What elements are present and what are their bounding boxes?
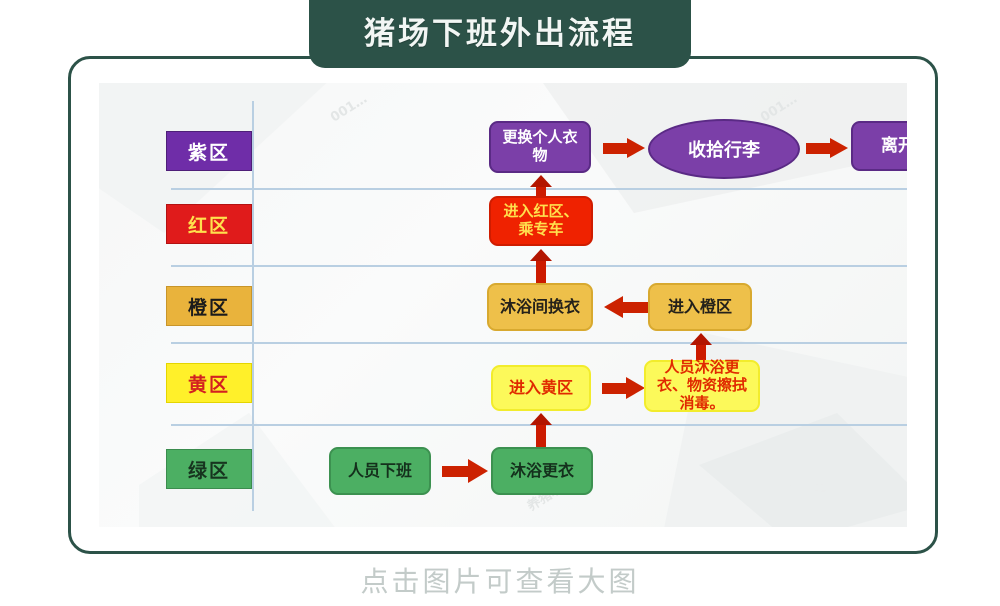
zone-label-red-text: 红区 (188, 211, 230, 238)
node-shower-room-change[interactable]: 沐浴间换衣 (487, 283, 593, 331)
node-shower-and-change[interactable]: 沐浴更衣 (491, 447, 593, 495)
zone-label-yellow[interactable]: 黄区 (166, 363, 252, 403)
image-hint-caption: 点击图片可查看大图 (0, 560, 1000, 600)
watermark-1: 001… (328, 92, 370, 126)
node-enter-red-zone-shuttle[interactable]: 进入红区、乘专车 (489, 196, 593, 246)
node-enter-orange-zone[interactable]: 进入橙区 (648, 283, 752, 331)
node-shower-and-disinfect-label: 人员沐浴更衣、物资擦拭消毒。 (652, 359, 752, 412)
node-leave-label: 离开 (881, 136, 907, 156)
node-staff-off-duty-label: 人员下班 (348, 462, 412, 481)
node-enter-orange-zone-label: 进入橙区 (668, 298, 732, 317)
node-staff-off-duty[interactable]: 人员下班 (329, 447, 431, 495)
node-enter-yellow-zone[interactable]: 进入黄区 (491, 365, 591, 411)
arrow-green-1-to-2-icon (442, 459, 488, 483)
arrow-yellow-1-to-2-icon (602, 377, 646, 399)
page-title: 猪场下班外出流程 (364, 19, 636, 50)
node-pack-luggage[interactable]: 收拾行李 (648, 119, 800, 179)
arrow-orange-right-to-left-icon (604, 296, 650, 318)
zone-label-red[interactable]: 红区 (166, 204, 252, 244)
page-root: 猪场下班外出流程 001… 001… 养猪职业 养猪 紫区 (0, 0, 1000, 606)
node-change-personal-clothes[interactable]: 更换个人衣物 (489, 121, 591, 173)
node-pack-luggage-label: 收拾行李 (688, 136, 760, 162)
zone-label-green[interactable]: 绿区 (166, 449, 252, 489)
node-change-personal-clothes-label: 更换个人衣物 (497, 129, 583, 164)
node-enter-yellow-zone-label: 进入黄区 (509, 379, 573, 398)
zone-label-purple-text: 紫区 (188, 138, 230, 165)
node-enter-red-zone-shuttle-label: 进入红区、乘专车 (497, 203, 585, 238)
zone-separator-3 (171, 342, 907, 344)
node-shower-and-disinfect[interactable]: 人员沐浴更衣、物资擦拭消毒。 (644, 360, 760, 412)
zone-label-orange[interactable]: 橙区 (166, 286, 252, 326)
diagram-card[interactable]: 001… 001… 养猪职业 养猪 紫区 红区 橙区 黄区 (68, 56, 938, 554)
node-leave[interactable]: 离开 (851, 121, 907, 171)
zone-timeline-line (252, 101, 254, 511)
zone-label-green-text: 绿区 (188, 456, 230, 483)
arrow-purple-1-to-2-icon (603, 138, 645, 158)
zone-label-orange-text: 橙区 (188, 293, 230, 320)
arrow-green-to-yellow-icon (529, 413, 553, 449)
node-shower-and-change-label: 沐浴更衣 (510, 462, 574, 481)
page-title-banner: 猪场下班外出流程 (309, 0, 691, 68)
diagram-canvas: 001… 001… 养猪职业 养猪 紫区 红区 橙区 黄区 (99, 83, 907, 527)
zone-label-yellow-text: 黄区 (188, 370, 230, 397)
zone-label-purple[interactable]: 紫区 (166, 131, 252, 171)
node-shower-room-change-label: 沐浴间换衣 (500, 298, 580, 317)
arrow-orange-to-red-icon (529, 249, 553, 285)
watermark-4: 养猪 (789, 478, 827, 505)
arrow-purple-2-to-3-icon (806, 138, 848, 158)
